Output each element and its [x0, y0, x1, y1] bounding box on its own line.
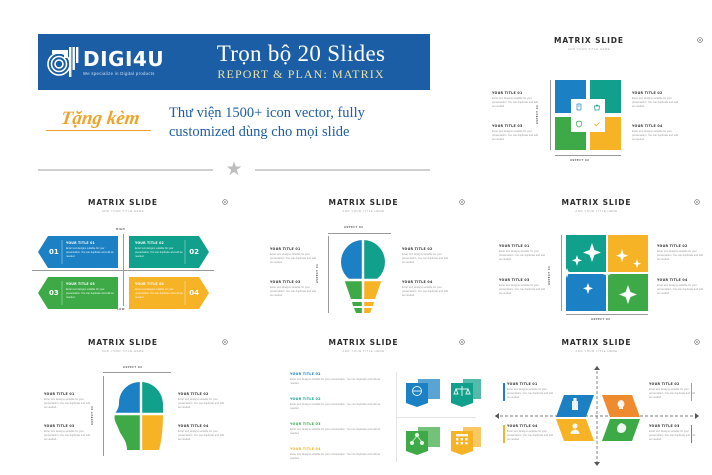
gear-icon[interactable]	[694, 339, 700, 345]
text-block-body: Enter text designs suitable for your pre…	[178, 430, 224, 442]
axis-x-line	[566, 314, 648, 315]
chevron-number: 01	[49, 248, 59, 256]
axis-x-line	[103, 372, 171, 373]
text-block-title: YOUR TITLE 01	[44, 392, 90, 396]
list-item-title: YOUR TITLE 03	[290, 422, 386, 426]
axis-low-label: LOW	[117, 308, 125, 311]
text-block-title: YOUR TITLE 01	[507, 382, 553, 386]
text-block-4: YOUR TITLE 04 Enter text designs suitabl…	[657, 278, 703, 296]
text-block-title: YOUR TITLE 04	[178, 424, 224, 428]
digi4u-logo-icon	[46, 42, 80, 82]
text-block-3: YOUR TITLE 03 Enter text designs suitabl…	[44, 424, 90, 442]
gear-icon[interactable]	[222, 199, 228, 205]
list-item-body: Enter text designs suitable for your pre…	[290, 403, 386, 411]
slide-subtitle: ADD YOUR TITLE HERE	[246, 349, 481, 353]
axis-x-label: ASPECT 02	[570, 159, 589, 162]
gift-label: Tặng kèm	[36, 104, 165, 130]
text-block-title: YOUR TITLE 04	[507, 424, 553, 428]
promo-banner: DIGI4U We specialize in Digital products…	[38, 34, 430, 90]
promo-title: Trọn bộ 20 Slides	[178, 42, 424, 67]
slide-matrix-hex[interactable]: MATRIX SLIDE ADD YOUR TITLE HERE	[481, 330, 712, 475]
text-block-body: Enter text designs suitable for your pre…	[402, 286, 448, 298]
axis-y-line	[561, 235, 562, 311]
gift-description: Thư viện 1500+ icon vector, fully custom…	[163, 104, 430, 141]
text-block-title: YOUR TITLE 01	[270, 247, 316, 251]
folded-card-1[interactable]	[406, 377, 440, 407]
header-promo-banner: DIGI4U We specialize in Digital products…	[0, 0, 445, 190]
promo-subtitle: REPORT & PLAN: MATRIX	[178, 67, 424, 82]
brand-logo: DIGI4U We specialize in Digital products	[38, 34, 178, 90]
document-icon	[571, 99, 587, 115]
gear-icon[interactable]	[694, 199, 700, 205]
list-item-body: Enter text designs suitable for your pre…	[290, 453, 386, 461]
text-block-3: YOUR TITLE 03 Enter text designs suitabl…	[499, 278, 545, 296]
gear-icon[interactable]	[459, 199, 465, 205]
text-block-4: YOUR TITLE 04 Enter text designs suitabl…	[402, 280, 448, 298]
text-block-title: YOUR TITLE 02	[632, 91, 678, 95]
text-block-4: YOUR TITLE 04 Enter text designs suitabl…	[507, 424, 553, 442]
axis-y-line	[550, 80, 551, 150]
axis-x-line	[555, 155, 621, 156]
chevron-01[interactable]: 01 YOUR TITLE 01 Enter text designs suit…	[38, 236, 118, 268]
axis-horizontal-line	[32, 270, 214, 271]
text-block-2: YOUR TITLE 02 Enter text designs suitabl…	[657, 244, 703, 262]
text-block-title: YOUR TITLE 03	[44, 424, 90, 428]
slide-title: MATRIX SLIDE	[466, 36, 712, 45]
divider-line-right	[255, 169, 430, 171]
list-item-4: YOUR TITLE 04 Enter text designs suitabl…	[290, 447, 386, 461]
slide-title: MATRIX SLIDE	[246, 198, 481, 207]
text-block-body: Enter text designs suitable for your pre…	[499, 284, 545, 296]
slide-subtitle: ADD YOUR TITLE HERE	[481, 349, 712, 353]
list-item-title: YOUR TITLE 04	[290, 447, 386, 451]
gear-icon[interactable]	[222, 339, 228, 345]
text-block-title: YOUR TITLE 04	[402, 280, 448, 284]
text-block-title: YOUR TITLE 02	[402, 247, 448, 251]
shield-icon	[571, 116, 587, 132]
slide-title: MATRIX SLIDE	[0, 338, 246, 347]
chevron-number: 03	[49, 289, 59, 297]
slide-subtitle: ADD YOUR TITLE HERE	[246, 209, 481, 213]
slide-title: MATRIX SLIDE	[246, 338, 481, 347]
text-block-body: Enter text designs suitable for your pre…	[492, 130, 538, 142]
text-block-title: YOUR TITLE 02	[657, 244, 703, 248]
text-block-2: YOUR TITLE 02 Enter text designs suitabl…	[402, 247, 448, 265]
slide-subtitle: ADD YOUR TITLE HERE	[466, 47, 712, 51]
slide-title: MATRIX SLIDE	[481, 198, 712, 207]
gear-icon[interactable]	[459, 339, 465, 345]
slide-header: MATRIX SLIDE ADD YOUR TITLE HERE	[246, 190, 481, 213]
hexagon-graphic[interactable]	[552, 387, 644, 452]
chevron-number: 04	[189, 289, 199, 297]
chevron-number: 02	[189, 248, 199, 256]
text-block-body: Enter text designs suitable for your pre…	[492, 97, 538, 109]
slide-matrix-cards[interactable]: MATRIX SLIDE ADD YOUR TITLE HERE YOUR TI…	[246, 330, 481, 475]
sparkle-quadrant-graphic[interactable]	[566, 235, 648, 316]
head-profile-graphic[interactable]	[113, 380, 165, 457]
axis-y-label: ASPECT 01	[316, 264, 319, 283]
text-block-3: YOUR TITLE 03 Enter text designs suitabl…	[270, 280, 316, 298]
text-block-1: YOUR TITLE 01 Enter text designs suitabl…	[499, 244, 545, 262]
star-icon: ★	[225, 160, 242, 179]
text-block-title: YOUR TITLE 04	[632, 124, 678, 128]
text-block-body: Enter text designs suitable for your pre…	[657, 250, 703, 262]
text-block-body: Enter text designs suitable for your pre…	[649, 388, 695, 400]
slide-matrix-head[interactable]: MATRIX SLIDE ADD YOUR TITLE HERE ASPECT …	[0, 330, 246, 475]
axis-x-line	[328, 233, 391, 234]
text-block-body: Enter text designs suitable for your pre…	[632, 97, 678, 109]
text-block-title: YOUR TITLE 03	[499, 278, 545, 282]
text-block-body: Enter text designs suitable for your pre…	[632, 130, 678, 142]
text-block-title: YOUR TITLE 03	[492, 124, 538, 128]
slide-matrix-quadrant[interactable]: MATRIX SLIDE ADD YOUR TITLE HERE ASPECT …	[466, 28, 712, 178]
slide-matrix-chevrons[interactable]: MATRIX SLIDE ADD YOUR TITLE HERE HIGH LO…	[0, 190, 246, 330]
axis-high-label: HIGH	[116, 228, 125, 231]
accent-bar-4	[503, 425, 505, 443]
text-block-4: YOUR TITLE 04 Enter text designs suitabl…	[178, 424, 224, 442]
slide-header: MATRIX SLIDE ADD YOUR TITLE HERE	[481, 190, 712, 213]
chevron-02[interactable]: 02 YOUR TITLE 02 Enter text designs suit…	[129, 236, 209, 268]
folded-card-2[interactable]	[451, 377, 485, 407]
list-item-title: YOUR TITLE 02	[290, 397, 386, 401]
chevron-body: Enter text designs suitable for your pre…	[66, 247, 114, 259]
slide-header: MATRIX SLIDE ADD YOUR TITLE HERE	[0, 190, 246, 213]
logo-wordmark: DIGI4U	[83, 49, 164, 69]
slide-title: MATRIX SLIDE	[0, 198, 246, 207]
divider-horizontal	[396, 417, 476, 418]
chevron-body: Enter text designs suitable for your pre…	[135, 247, 183, 259]
axis-x-label: ASPECT 02	[123, 366, 142, 369]
text-block-2: YOUR TITLE 02 Enter text designs suitabl…	[632, 91, 678, 109]
divider-line-left	[38, 169, 213, 171]
slide-subtitle: ADD YOUR TITLE HERE	[481, 209, 712, 213]
text-block-body: Enter text designs suitable for your pre…	[44, 430, 90, 442]
text-block-body: Enter text designs suitable for your pre…	[44, 398, 90, 410]
text-block-3: YOUR TITLE 03 Enter text designs suitabl…	[492, 124, 538, 142]
list-item-2: YOUR TITLE 02 Enter text designs suitabl…	[290, 397, 386, 411]
text-block-body: Enter text designs suitable for your pre…	[657, 284, 703, 296]
chevron-04[interactable]: 04 YOUR TITLE 04 Enter text designs suit…	[129, 277, 209, 309]
text-block-3: YOUR TITLE 03 Enter text designs suitabl…	[649, 424, 695, 442]
text-block-title: YOUR TITLE 01	[492, 91, 538, 95]
folded-card-4[interactable]	[451, 425, 485, 455]
text-block-body: Enter text designs suitable for your pre…	[178, 398, 224, 410]
slide-header: MATRIX SLIDE ADD YOUR TITLE HERE	[481, 330, 712, 353]
chevron-body: Enter text designs suitable for your pre…	[66, 288, 114, 300]
axis-y-label: ASPECT 01	[548, 266, 551, 285]
text-block-body: Enter text designs suitable for your pre…	[507, 430, 553, 442]
accent-bar-1	[503, 383, 505, 401]
star-divider: ★	[38, 160, 430, 179]
chevron-title: YOUR TITLE 02	[135, 241, 183, 245]
list-item-1: YOUR TITLE 01 Enter text designs suitabl…	[290, 372, 386, 386]
check-icon	[589, 116, 605, 132]
gear-icon[interactable]	[697, 37, 703, 43]
text-block-4: YOUR TITLE 04 Enter text designs suitabl…	[632, 124, 678, 142]
promo-gift-row: Tặng kèm Thư viện 1500+ icon vector, ful…	[38, 104, 430, 141]
text-block-title: YOUR TITLE 01	[499, 244, 545, 248]
text-block-body: Enter text designs suitable for your pre…	[402, 253, 448, 265]
text-block-body: Enter text designs suitable for your pre…	[270, 253, 316, 265]
axis-y-label: ASPECT 01	[91, 406, 94, 425]
text-block-1: YOUR TITLE 01 Enter text designs suitabl…	[44, 392, 90, 410]
list-item-3: YOUR TITLE 03 Enter text designs suitabl…	[290, 422, 386, 436]
slide-subtitle: ADD YOUR TITLE HERE	[0, 209, 246, 213]
text-block-title: YOUR TITLE 03	[649, 424, 695, 428]
chevron-03[interactable]: 03 YOUR TITLE 03 Enter text designs suit…	[38, 277, 118, 309]
slide-matrix-bulb[interactable]: MATRIX SLIDE ADD YOUR TITLE HERE ASPECT …	[246, 190, 481, 330]
text-block-title: YOUR TITLE 02	[178, 392, 224, 396]
text-block-body: Enter text designs suitable for your pre…	[499, 250, 545, 262]
chevron-body: Enter text designs suitable for your pre…	[135, 288, 183, 300]
axis-y-line	[103, 376, 104, 456]
chevron-title: YOUR TITLE 01	[66, 241, 114, 245]
text-block-title: YOUR TITLE 02	[649, 382, 695, 386]
list-item-body: Enter text designs suitable for your pre…	[290, 378, 386, 386]
axis-x-label: ASPECT 02	[591, 318, 610, 321]
list-item-title: YOUR TITLE 01	[290, 372, 386, 376]
axis-y-line	[328, 236, 329, 313]
text-block-2: YOUR TITLE 02 Enter text designs suitabl…	[178, 392, 224, 410]
slide-header: MATRIX SLIDE ADD YOUR TITLE HERE	[466, 28, 712, 51]
quadrant-grid	[555, 80, 621, 150]
chevron-title: YOUR TITLE 03	[66, 282, 114, 286]
text-block-1: YOUR TITLE 01 Enter text designs suitabl…	[270, 247, 316, 265]
lightbulb-graphic[interactable]	[334, 237, 392, 318]
chevron-title: YOUR TITLE 04	[135, 282, 183, 286]
text-block-2: YOUR TITLE 02 Enter text designs suitabl…	[649, 382, 695, 400]
bag-icon	[589, 99, 605, 115]
text-block-title: YOUR TITLE 03	[270, 280, 316, 284]
slide-subtitle: ADD YOUR TITLE HERE	[0, 349, 246, 353]
text-block-body: Enter text designs suitable for your pre…	[649, 430, 695, 442]
slide-matrix-sparkle[interactable]: MATRIX SLIDE ADD YOUR TITLE HERE ASP	[481, 190, 712, 330]
logo-tagline: We specialize in Digital products	[83, 71, 164, 76]
folded-card-3[interactable]	[406, 425, 440, 455]
list-item-body: Enter text designs suitable for your pre…	[290, 428, 386, 436]
slide-title: MATRIX SLIDE	[481, 338, 712, 347]
text-block-body: Enter text designs suitable for your pre…	[507, 388, 553, 400]
text-block-1: YOUR TITLE 01 Enter text designs suitabl…	[492, 91, 538, 109]
slide-header: MATRIX SLIDE ADD YOUR TITLE HERE	[0, 330, 246, 353]
text-block-body: Enter text designs suitable for your pre…	[270, 286, 316, 298]
axis-x-label: ASPECT 02	[344, 226, 363, 229]
text-block-1: YOUR TITLE 01 Enter text designs suitabl…	[507, 382, 553, 400]
slide-header: MATRIX SLIDE ADD YOUR TITLE HERE	[246, 330, 481, 353]
text-block-title: YOUR TITLE 04	[657, 278, 703, 282]
